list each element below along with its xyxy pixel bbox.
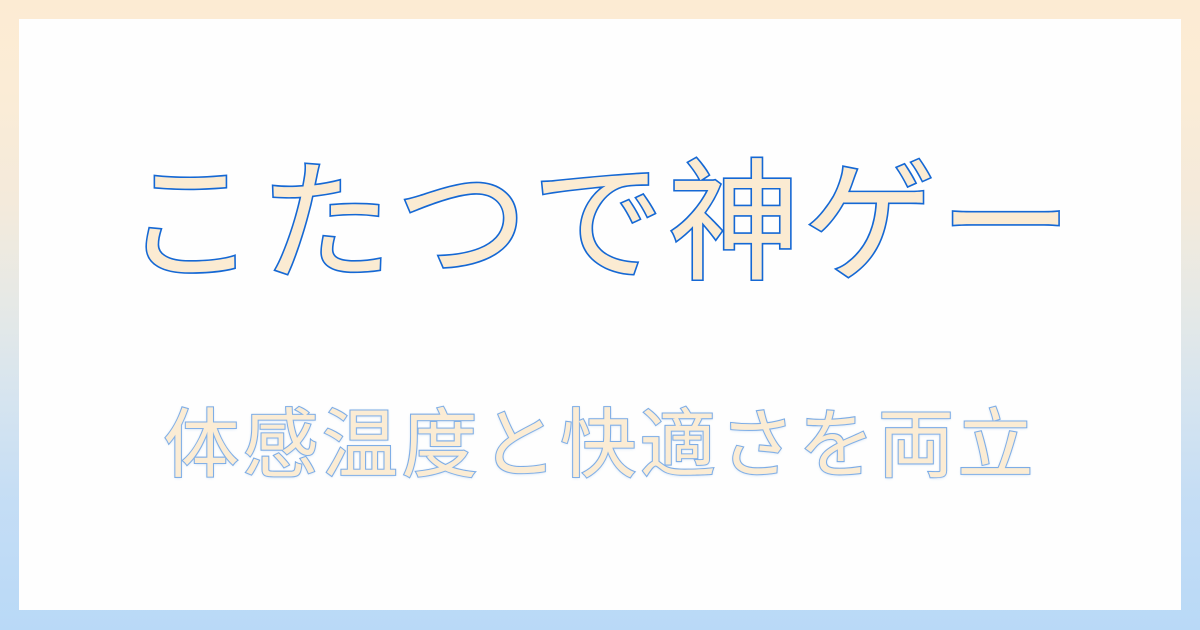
banner-title: こたつで神ゲー bbox=[124, 155, 1076, 295]
banner-canvas: こたつで神ゲー 体感温度と快適さを両立 bbox=[0, 0, 1200, 630]
banner-card: こたつで神ゲー 体感温度と快適さを両立 bbox=[19, 19, 1181, 610]
subtitle-container: 体感温度と快適さを両立 bbox=[19, 391, 1181, 499]
title-container: こたつで神ゲー bbox=[19, 145, 1181, 305]
banner-subtitle: 体感温度と快適さを両立 bbox=[163, 405, 1037, 486]
